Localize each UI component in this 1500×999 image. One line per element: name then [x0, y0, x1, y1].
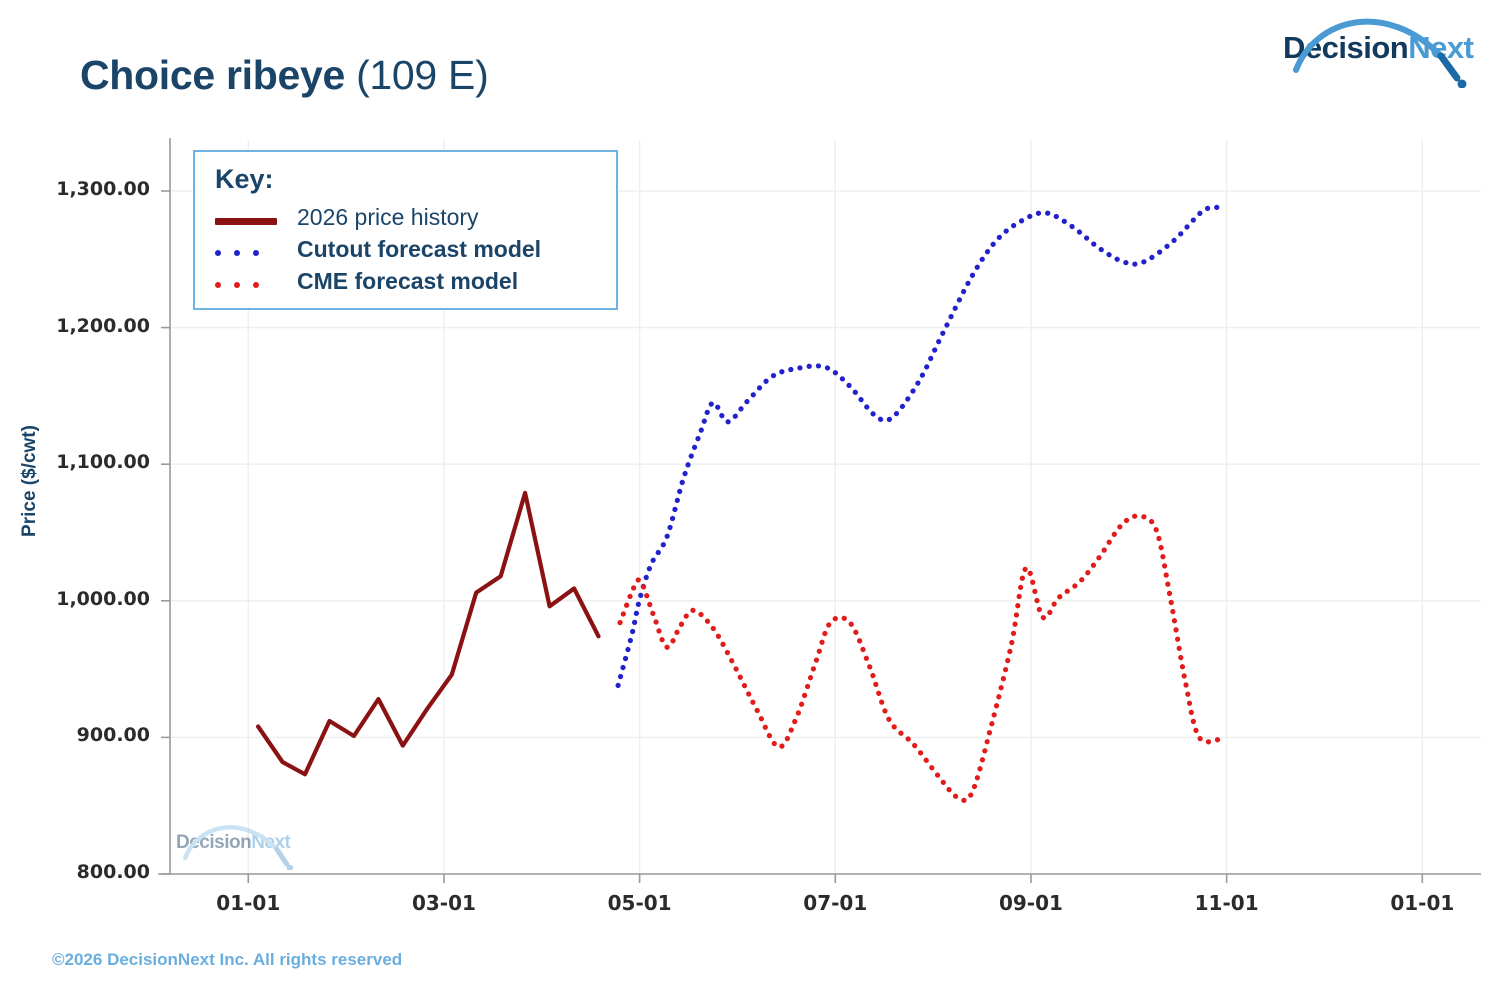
series-line-1 [618, 207, 1217, 685]
chart-legend: Key: 2026 price historyCutout forecast m… [193, 150, 618, 310]
x-tick-label: 09-01 [971, 891, 1091, 915]
legend-swatch-0 [215, 218, 277, 225]
decisionnext-watermark: DecisionNext [176, 832, 290, 854]
x-tick-label: 11-01 [1167, 891, 1287, 915]
legend-label-0: 2026 price history [297, 204, 479, 231]
x-tick-label: 01-01 [1362, 891, 1482, 915]
x-tick-label: 07-01 [775, 891, 895, 915]
x-tick-label: 01-01 [188, 891, 308, 915]
y-tick-label: 1,300.00 [0, 178, 150, 200]
legend-swatch-2 [215, 282, 277, 288]
y-tick-label: 1,000.00 [0, 588, 150, 610]
y-tick-label: 800.00 [0, 861, 150, 883]
legend-title: Key: [215, 164, 274, 195]
y-tick-label: 1,200.00 [0, 315, 150, 337]
series-line-2 [620, 516, 1222, 800]
watermark-swoosh-icon [182, 818, 302, 870]
copyright-footer: ©2026 DecisionNext Inc. All rights reser… [52, 950, 402, 970]
y-tick-label: 1,100.00 [0, 451, 150, 473]
y-tick-label: 900.00 [0, 724, 150, 746]
legend-label-1: Cutout forecast model [297, 236, 541, 263]
series-line-0 [258, 493, 598, 774]
x-tick-label: 05-01 [580, 891, 700, 915]
legend-label-2: CME forecast model [297, 268, 518, 295]
legend-swatch-1 [215, 250, 277, 256]
x-tick-label: 03-01 [384, 891, 504, 915]
